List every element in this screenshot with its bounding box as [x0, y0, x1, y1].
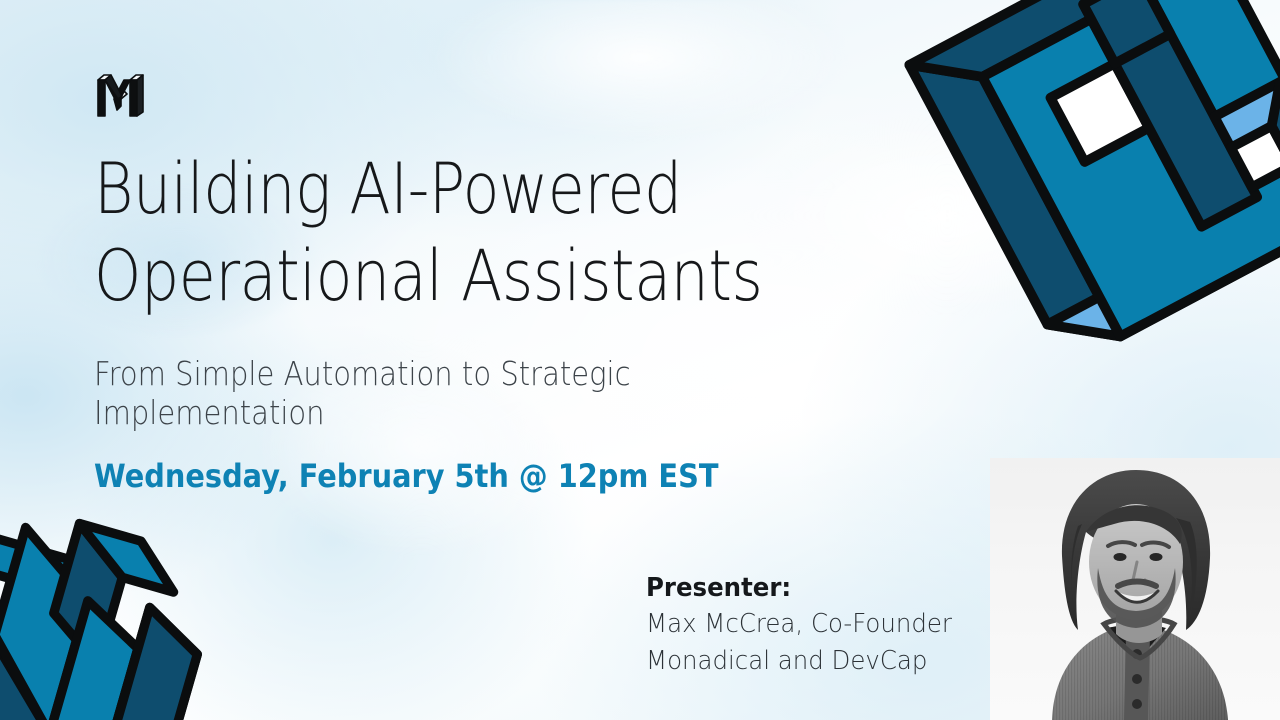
presenter-block: Presenter: Max McCrea, Co-Founder Monadi… [646, 572, 1006, 679]
webinar-slide: Building AI-Powered Operational Assistan… [0, 0, 1280, 720]
headline-block: Building AI-Powered Operational Assistan… [94, 146, 924, 495]
presenter-company: Monadical and DevCap [646, 644, 984, 679]
presenter-name: Max McCrea, Co-Founder [646, 607, 984, 642]
page-title: Building AI-Powered Operational Assistan… [94, 146, 808, 320]
presenter-headshot-photo [990, 458, 1280, 720]
page-subtitle: From Simple Automation to Strategic Impl… [94, 354, 824, 433]
monadical-m-logo [94, 72, 148, 124]
presenter-label: Presenter: [646, 572, 984, 605]
event-date: Wednesday, February 5th @ 12pm EST [94, 457, 841, 495]
